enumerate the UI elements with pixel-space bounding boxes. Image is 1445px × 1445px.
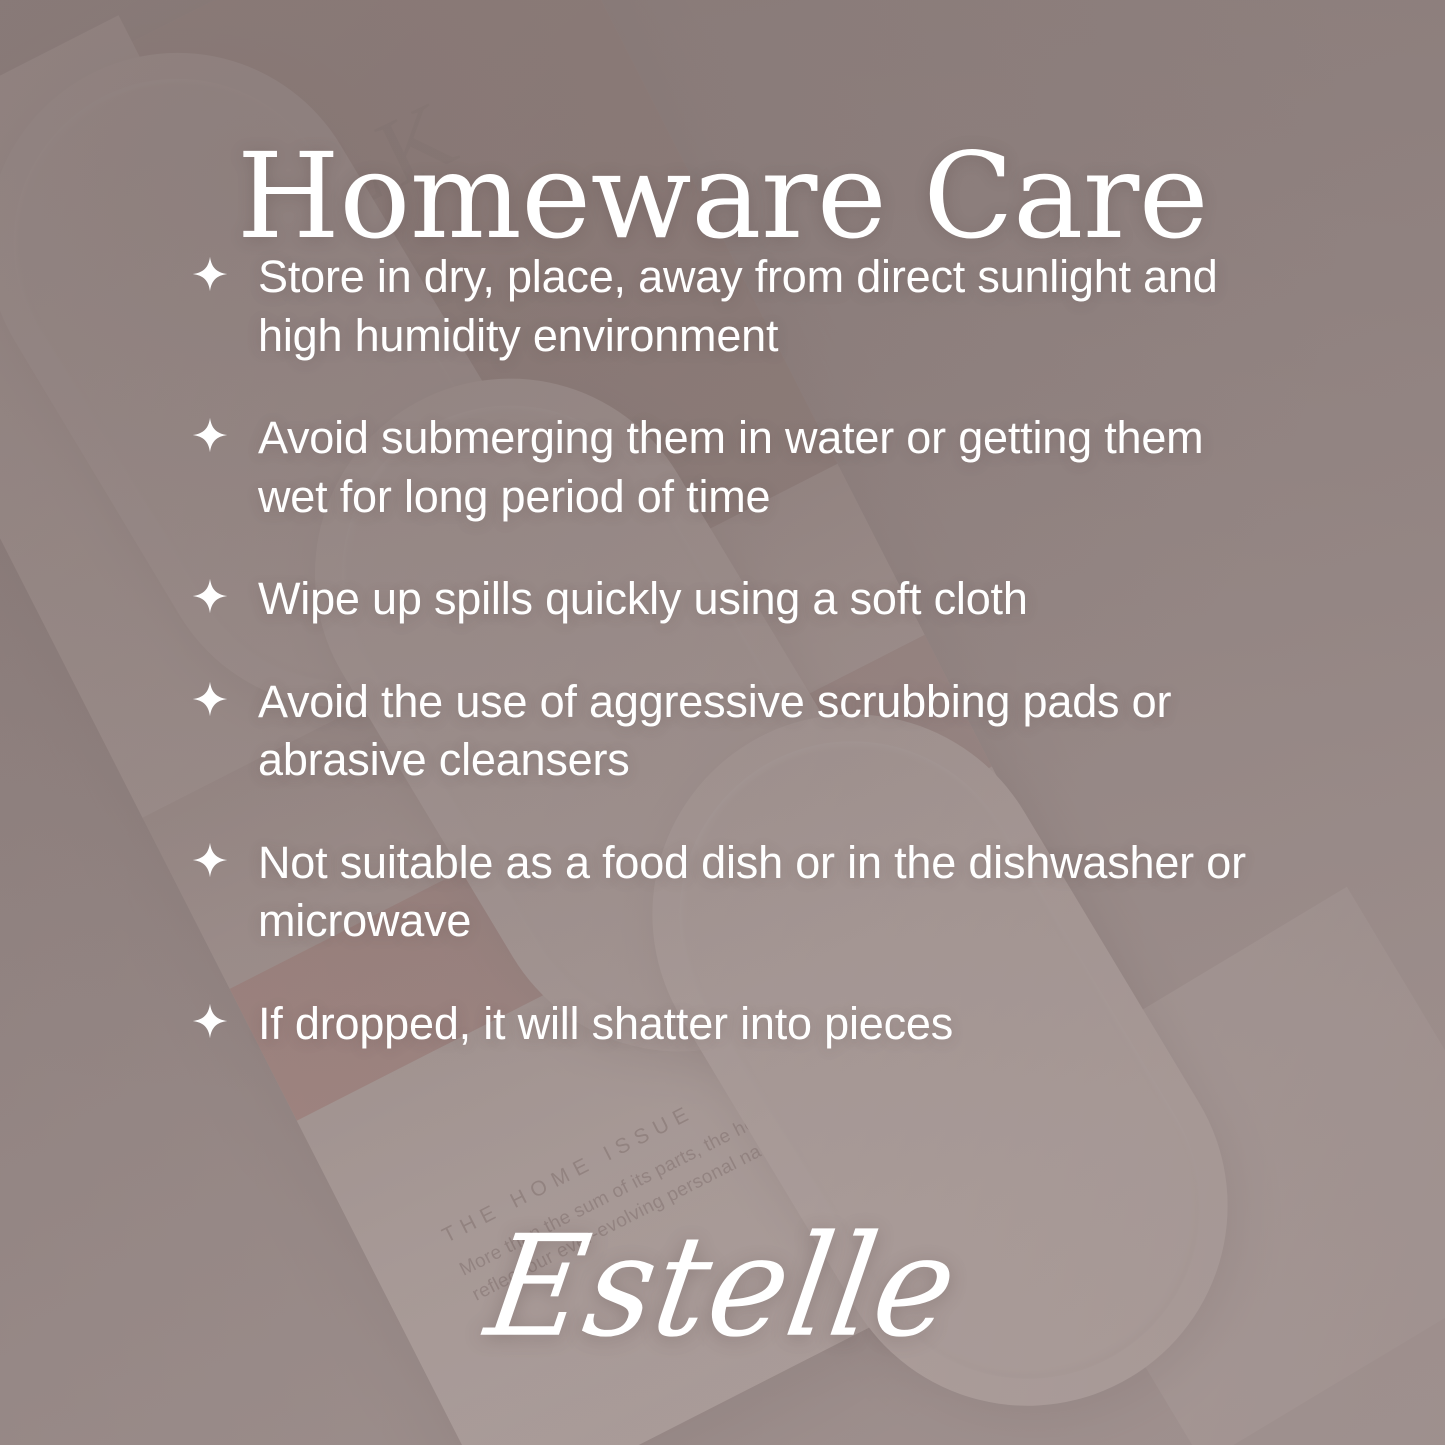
homeware-care-card: LK THE HOME ISSUE More than the sum of i…: [0, 0, 1445, 1445]
list-item: Wipe up spills quickly using a soft clot…: [192, 570, 1325, 629]
sparkle-star-icon: [192, 578, 228, 614]
page-title: Homeware Care: [0, 135, 1445, 259]
list-item-label: Avoid the use of aggressive scrubbing pa…: [258, 673, 1273, 790]
card-content: Homeware Care Store in dry, place, away …: [0, 0, 1445, 1445]
brand-signature: Estelle: [0, 1221, 1445, 1353]
list-item-label: Wipe up spills quickly using a soft clot…: [258, 570, 1028, 629]
list-item: Store in dry, place, away from direct su…: [192, 248, 1325, 365]
sparkle-star-icon: [192, 417, 228, 453]
sparkle-star-icon: [192, 681, 228, 717]
list-item: Not suitable as a food dish or in the di…: [192, 834, 1325, 951]
sparkle-star-icon: [192, 842, 228, 878]
care-instruction-list: Store in dry, place, away from direct su…: [192, 248, 1325, 1053]
list-item-label: If dropped, it will shatter into pieces: [258, 995, 953, 1054]
list-item-label: Avoid submerging them in water or gettin…: [258, 409, 1273, 526]
sparkle-star-icon: [192, 1003, 228, 1039]
list-item-label: Store in dry, place, away from direct su…: [258, 248, 1273, 365]
list-item: Avoid the use of aggressive scrubbing pa…: [192, 673, 1325, 790]
sparkle-star-icon: [192, 256, 228, 292]
list-item: If dropped, it will shatter into pieces: [192, 995, 1325, 1054]
list-item-label: Not suitable as a food dish or in the di…: [258, 834, 1273, 951]
list-item: Avoid submerging them in water or gettin…: [192, 409, 1325, 526]
brand-signature-text: Estelle: [479, 1217, 966, 1357]
